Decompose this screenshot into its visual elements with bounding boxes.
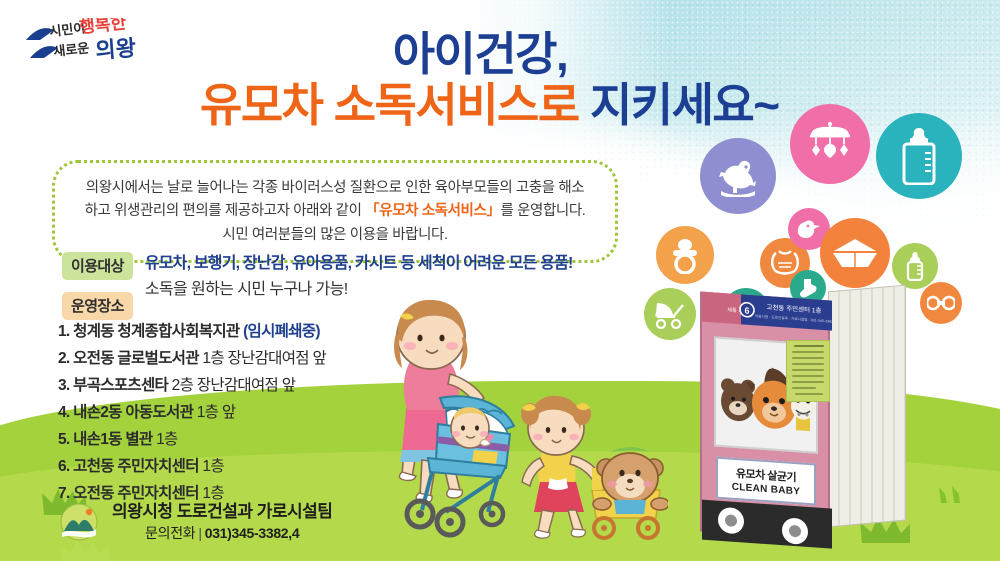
- footer-phone-number: 031)345-3382,4: [205, 525, 300, 541]
- description-line-1: 의왕시에서는 날로 늘어나는 각종 바이러스성 질환으로 인한 육아부모들의 고…: [73, 177, 597, 200]
- teddy-bear-toy-stroller-figure: [592, 447, 668, 538]
- target-line-1: 유모차, 보행기, 장난감, 유아용품, 카시트 등 세척이 어려운 모든 용품…: [145, 253, 573, 275]
- place-name: 부곡스포츠센타: [73, 377, 168, 394]
- place-name: 내손2동 아동도서관: [73, 404, 193, 421]
- paper-boat-icon: [820, 218, 890, 288]
- kiosk-label-plate: 유모차 살균기 CLEAN BABY: [716, 457, 816, 506]
- target-badge: 이용대상: [62, 252, 133, 280]
- grass-blade-icon: [938, 485, 964, 503]
- place-name: 오전동 글로벌도서관: [73, 350, 199, 367]
- footer-contact: 문의전화|031)345-3382,4: [112, 524, 332, 543]
- place-detail: 1층 장난감대여점 앞: [199, 350, 326, 367]
- description-line-2-b: 를 운영합니다.: [501, 203, 586, 219]
- sterilizer-kiosk-photo: 6 제품 고천동 주민센터 1층 의왕시청 · 도로건설과 · 가로시설팀 · …: [700, 288, 910, 543]
- place-name: 내손1동 별관: [73, 431, 152, 448]
- kiosk-front-panel: 6 제품 고천동 주민센터 1층 의왕시청 · 도로건설과 · 가로시설팀 · …: [700, 291, 830, 540]
- kiosk-base: [702, 500, 832, 549]
- uiwang-city-emblem: [60, 503, 98, 541]
- target-section: 이용대상 유모차, 보행기, 장난감, 유아용품, 카시트 등 세척이 어려운 …: [62, 252, 592, 302]
- small-bottle-icon: [892, 243, 938, 289]
- rattle-icon: [920, 282, 962, 324]
- place-detail: 1층: [199, 485, 224, 502]
- place-number: 7.: [58, 485, 73, 502]
- kiosk-usage-notice: [786, 340, 830, 402]
- footer-department: 의왕시청 도로건설과 가로시설팀: [112, 501, 332, 524]
- description-box: 의왕시에서는 날로 늘어나는 각종 바이러스성 질환으로 인한 육아부모들의 고…: [52, 160, 618, 263]
- place-list-item: 2. 오전동 글로벌도서관 1층 장난감대여점 앞: [58, 347, 428, 371]
- place-number: 4.: [58, 404, 73, 421]
- kiosk-wheel-graphic: [718, 507, 744, 535]
- svg-text:행복한: 행복한: [78, 18, 127, 37]
- kiosk-side-panels: [828, 285, 906, 528]
- poster-canvas: 시민이 행복한 새로운 의왕 아이건강, 유모차 소독서비스로 지키세요~ 의왕…: [0, 0, 1000, 561]
- place-number: 2.: [58, 350, 73, 367]
- description-keyword: 「유모차 소독서비스」: [365, 203, 500, 219]
- description-line-2: 하고 위생관리의 편의를 제공하고자 아래와 같이 「유모차 소독서비스」를 운…: [73, 200, 597, 223]
- rocking-horse-icon: [700, 138, 776, 214]
- mother-with-stroller-illustration: [378, 300, 668, 550]
- place-detail: 1층: [152, 431, 177, 448]
- pacifier-icon: [656, 226, 714, 284]
- baby-mobile-icon: [790, 104, 870, 184]
- svg-text:제품: 제품: [727, 306, 737, 314]
- place-list-item: 5. 내손1동 별관 1층: [58, 428, 428, 452]
- place-status-badge: (임시폐쇄중): [239, 323, 319, 340]
- place-name: 청계동 청계종합사회복지관: [73, 323, 239, 340]
- girl-figure: [521, 396, 600, 538]
- uiwang-city-logo: 시민이 행복한 새로운 의왕: [22, 18, 152, 66]
- kiosk-header-banner: 6 제품 고천동 주민센터 1층 의왕시청 · 도로건설과 · 가로시설팀 · …: [702, 292, 832, 331]
- places-section-header: 운영장소: [62, 292, 133, 320]
- svg-text:의왕: 의왕: [95, 35, 137, 63]
- footer-phone-label: 문의전화: [145, 525, 195, 541]
- place-list-item: 4. 내손2동 아동도서관 1층 앞: [58, 401, 428, 425]
- description-line-3: 시민 여러분들의 많은 이용을 바랍니다.: [73, 224, 597, 247]
- title-line-2-blue: 지키세요~: [579, 79, 779, 131]
- footer-separator: |: [198, 525, 201, 541]
- title-line-2: 유모차 소독서비스로 지키세요~: [200, 78, 760, 132]
- place-number: 3.: [58, 377, 73, 394]
- kiosk-wheel-graphic: [782, 517, 808, 545]
- title-line-1: 아이건강,: [200, 30, 760, 78]
- place-list-item: 1. 청계동 청계종합사회복지관 (임시폐쇄중): [58, 320, 428, 344]
- footer: 의왕시청 도로건설과 가로시설팀 문의전화|031)345-3382,4: [60, 501, 332, 543]
- place-detail: 1층 앞: [193, 404, 235, 421]
- place-detail: 2층 장난감대여점 앞: [168, 377, 295, 394]
- places-badge: 운영장소: [62, 292, 133, 320]
- title-line-2-orange: 유모차 소독서비스로: [200, 79, 579, 131]
- place-number: 5.: [58, 431, 73, 448]
- place-name: 오전동 주민자치센터: [73, 485, 199, 502]
- place-number: 1.: [58, 323, 73, 340]
- description-line-2-a: 하고 위생관리의 편의를 제공하고자 아래와 같이: [85, 203, 366, 219]
- place-name: 고천동 주민자치센터: [73, 458, 199, 475]
- svg-text:새로운: 새로운: [53, 40, 90, 59]
- baby-bottle-icon: [876, 113, 962, 199]
- place-list-item: 3. 부곡스포츠센타 2층 장난감대여점 앞: [58, 374, 428, 398]
- place-number: 6.: [58, 458, 73, 475]
- place-list-item: 6. 고천동 주민자치센터 1층: [58, 455, 428, 479]
- svg-text:6: 6: [744, 306, 749, 316]
- places-list: 1. 청계동 청계종합사회복지관 (임시폐쇄중)2. 오전동 글로벌도서관 1층…: [58, 320, 428, 509]
- place-detail: 1층: [199, 458, 224, 475]
- poster-title: 아이건강, 유모차 소독서비스로 지키세요~: [200, 30, 760, 133]
- svg-text:고천동 주민센터 1층: 고천동 주민센터 1층: [766, 302, 821, 315]
- target-line-2: 소독을 원하는 시민 누구나 가능!: [145, 278, 573, 303]
